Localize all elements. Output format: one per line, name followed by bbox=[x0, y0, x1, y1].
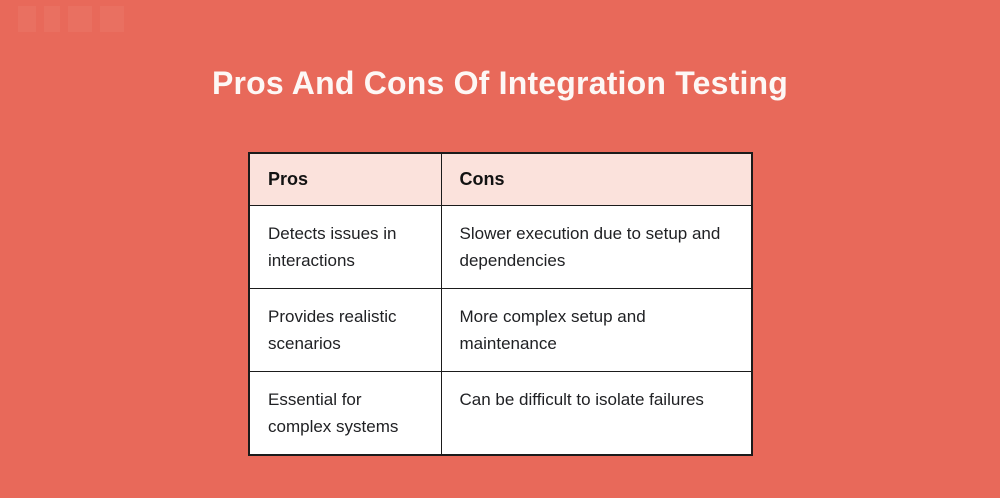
cell-pros: Essential for complex systems bbox=[249, 372, 441, 456]
column-header-pros: Pros bbox=[249, 153, 441, 206]
page-title: Pros And Cons Of Integration Testing bbox=[0, 60, 1000, 106]
column-header-cons: Cons bbox=[441, 153, 752, 206]
table-row: Essential for complex systems Can be dif… bbox=[249, 372, 752, 456]
cell-cons: Can be difficult to isolate failures bbox=[441, 372, 752, 456]
table-header-row: Pros Cons bbox=[249, 153, 752, 206]
cell-pros: Provides realistic scenarios bbox=[249, 289, 441, 372]
table-row: Provides realistic scenarios More comple… bbox=[249, 289, 752, 372]
table-body: Detects issues in interactions Slower ex… bbox=[249, 206, 752, 456]
cell-cons: Slower execution due to setup and depend… bbox=[441, 206, 752, 289]
pros-and-cons-table-container: Pros Cons Detects issues in interactions… bbox=[248, 152, 751, 456]
table-header: Pros Cons bbox=[249, 153, 752, 206]
watermark-logo bbox=[14, 6, 134, 32]
cell-pros: Detects issues in interactions bbox=[249, 206, 441, 289]
slide-canvas: Pros And Cons Of Integration Testing Pro… bbox=[0, 0, 1000, 498]
pros-and-cons-table: Pros Cons Detects issues in interactions… bbox=[248, 152, 753, 456]
table-row: Detects issues in interactions Slower ex… bbox=[249, 206, 752, 289]
cell-cons: More complex setup and maintenance bbox=[441, 289, 752, 372]
